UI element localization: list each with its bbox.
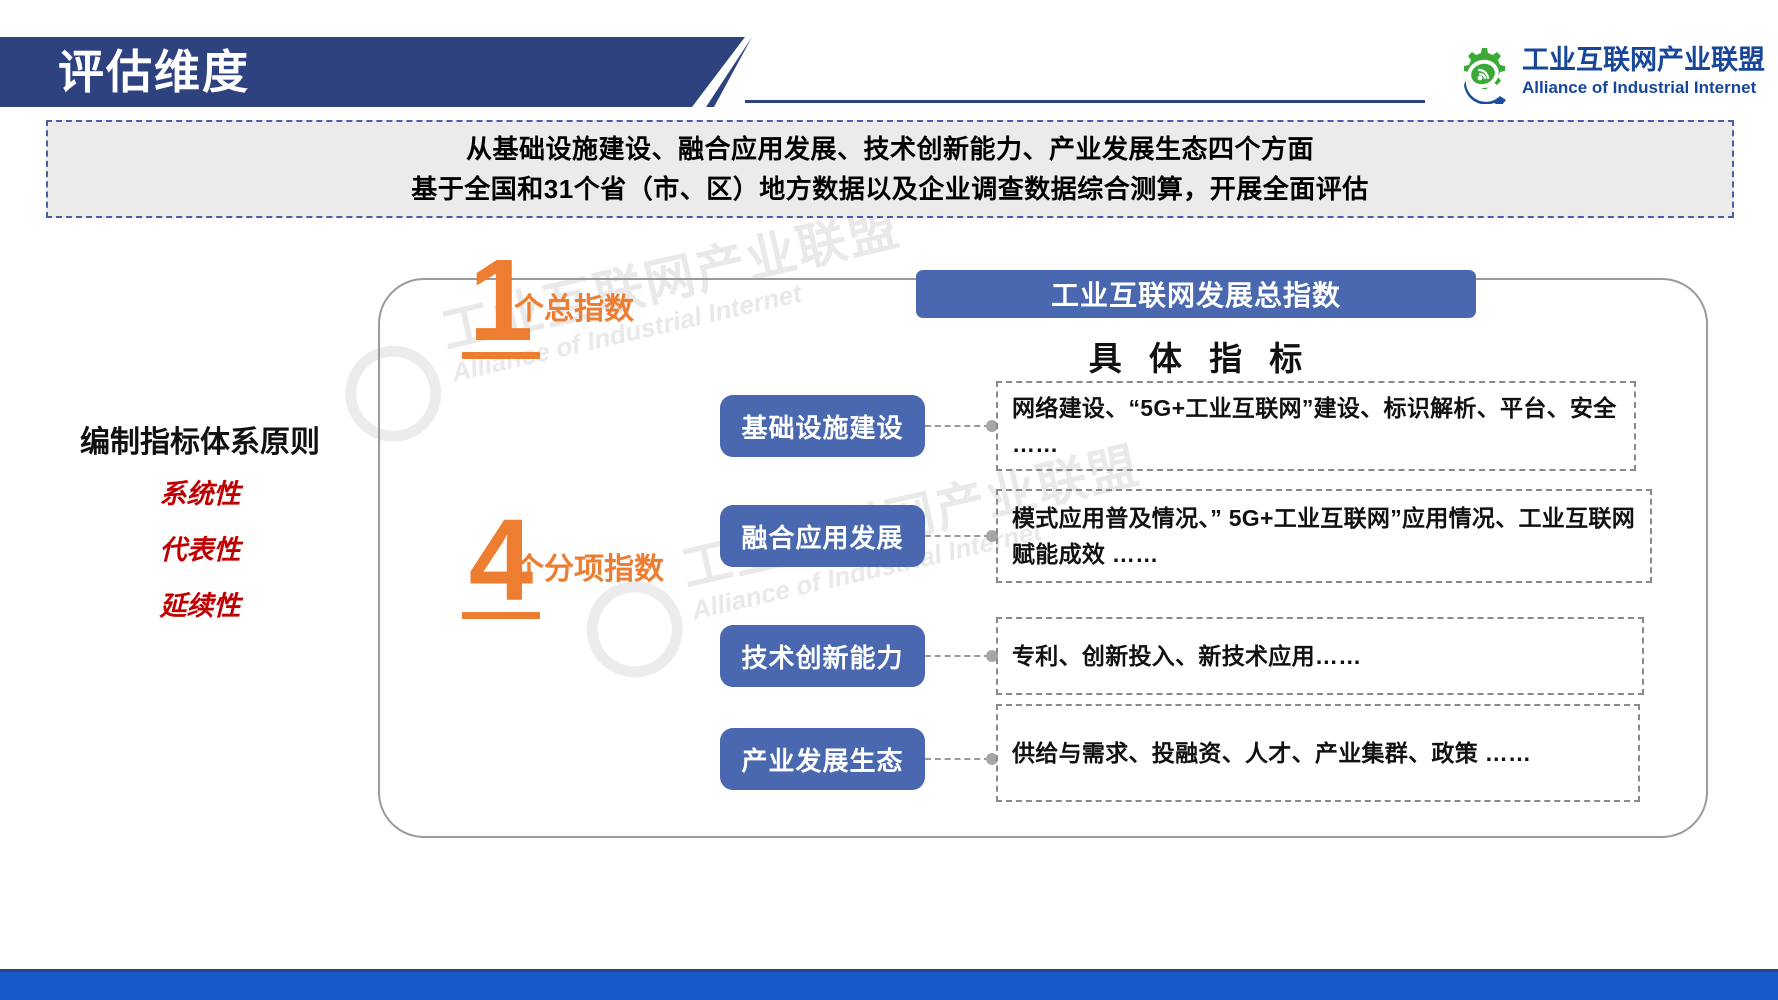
dimension-detail-ecosystem: 供给与需求、投融资、人才、产业集群、政策 ……: [996, 704, 1640, 802]
brand-logo: 工业互联网产业联盟 Alliance of Industrial Interne…: [1452, 44, 1768, 106]
connector-line: [925, 758, 990, 760]
total-index-caption: 个总指数: [514, 292, 634, 328]
dimension-chip-integration[interactable]: 融合应用发展: [720, 505, 925, 567]
dimension-detail-text: 模式应用普及情况、” 5G+工业互联网”应用情况、工业互联网赋能成效 ……: [1012, 500, 1636, 572]
dimension-chip-label: 技术创新能力: [741, 638, 903, 675]
dimension-detail-text: 专利、创新投入、新技术应用……: [1012, 638, 1362, 674]
connector-line: [925, 655, 990, 657]
total-index-number-group: 1 个总指数: [462, 250, 540, 359]
dimension-chip-infrastructure[interactable]: 基础设施建设: [720, 395, 925, 457]
principle-item-3: 延续性: [20, 578, 380, 634]
description-banner: 从基础设施建设、融合应用发展、技术创新能力、产业发展生态四个方面 基于全国和31…: [46, 120, 1734, 218]
total-index-bar: 工业互联网发展总指数: [916, 270, 1476, 318]
dimension-chip-label: 产业发展生态: [741, 741, 903, 778]
detail-heading: 具 体 指 标: [990, 332, 1410, 380]
connector-line: [925, 425, 990, 427]
principles-block: 编制指标体系原则 系统性 代表性 延续性: [20, 420, 380, 634]
total-index-bar-label: 工业互联网发展总指数: [1051, 274, 1341, 314]
header-rule: [745, 100, 1425, 103]
principles-title: 编制指标体系原则: [20, 420, 380, 466]
footer-bar: [0, 972, 1778, 1000]
dimension-chip-label: 基础设施建设: [741, 408, 903, 445]
description-line-1: 从基础设施建设、融合应用发展、技术创新能力、产业发展生态四个方面: [466, 129, 1314, 169]
principle-item-1: 系统性: [20, 466, 380, 522]
dimension-detail-text: 网络建设、“5G+工业互联网”建设、标识解析、平台、安全 ……: [1012, 390, 1620, 462]
dimension-chip-label: 融合应用发展: [741, 518, 903, 555]
gear-wifi-logo-icon: [1452, 46, 1514, 104]
description-line-2: 基于全国和31个省（市、区）地方数据以及企业调查数据综合测算，开展全面评估: [411, 169, 1368, 209]
principle-item-2: 代表性: [20, 522, 380, 578]
sub-index-caption: 个分项指数: [514, 552, 664, 588]
dimension-detail-innovation: 专利、创新投入、新技术应用……: [996, 617, 1644, 695]
slide-canvas: 工业互联网产业联盟 Alliance of Industrial Interne…: [0, 0, 1778, 1000]
dimension-detail-text: 供给与需求、投融资、人才、产业集群、政策 ……: [1012, 735, 1531, 771]
dimension-chip-innovation[interactable]: 技术创新能力: [720, 625, 925, 687]
connector-line: [925, 535, 990, 537]
dimension-detail-infrastructure: 网络建设、“5G+工业互联网”建设、标识解析、平台、安全 ……: [996, 381, 1636, 471]
logo-text-cn: 工业互联网产业联盟: [1522, 44, 1765, 76]
page-title: 评估维度: [58, 44, 250, 100]
dimension-detail-integration: 模式应用普及情况、” 5G+工业互联网”应用情况、工业互联网赋能成效 ……: [996, 489, 1652, 583]
dimension-chip-ecosystem[interactable]: 产业发展生态: [720, 728, 925, 790]
logo-text-en: Alliance of Industrial Internet: [1522, 78, 1756, 98]
sub-index-number-group: 4 个分项指数: [462, 510, 540, 619]
